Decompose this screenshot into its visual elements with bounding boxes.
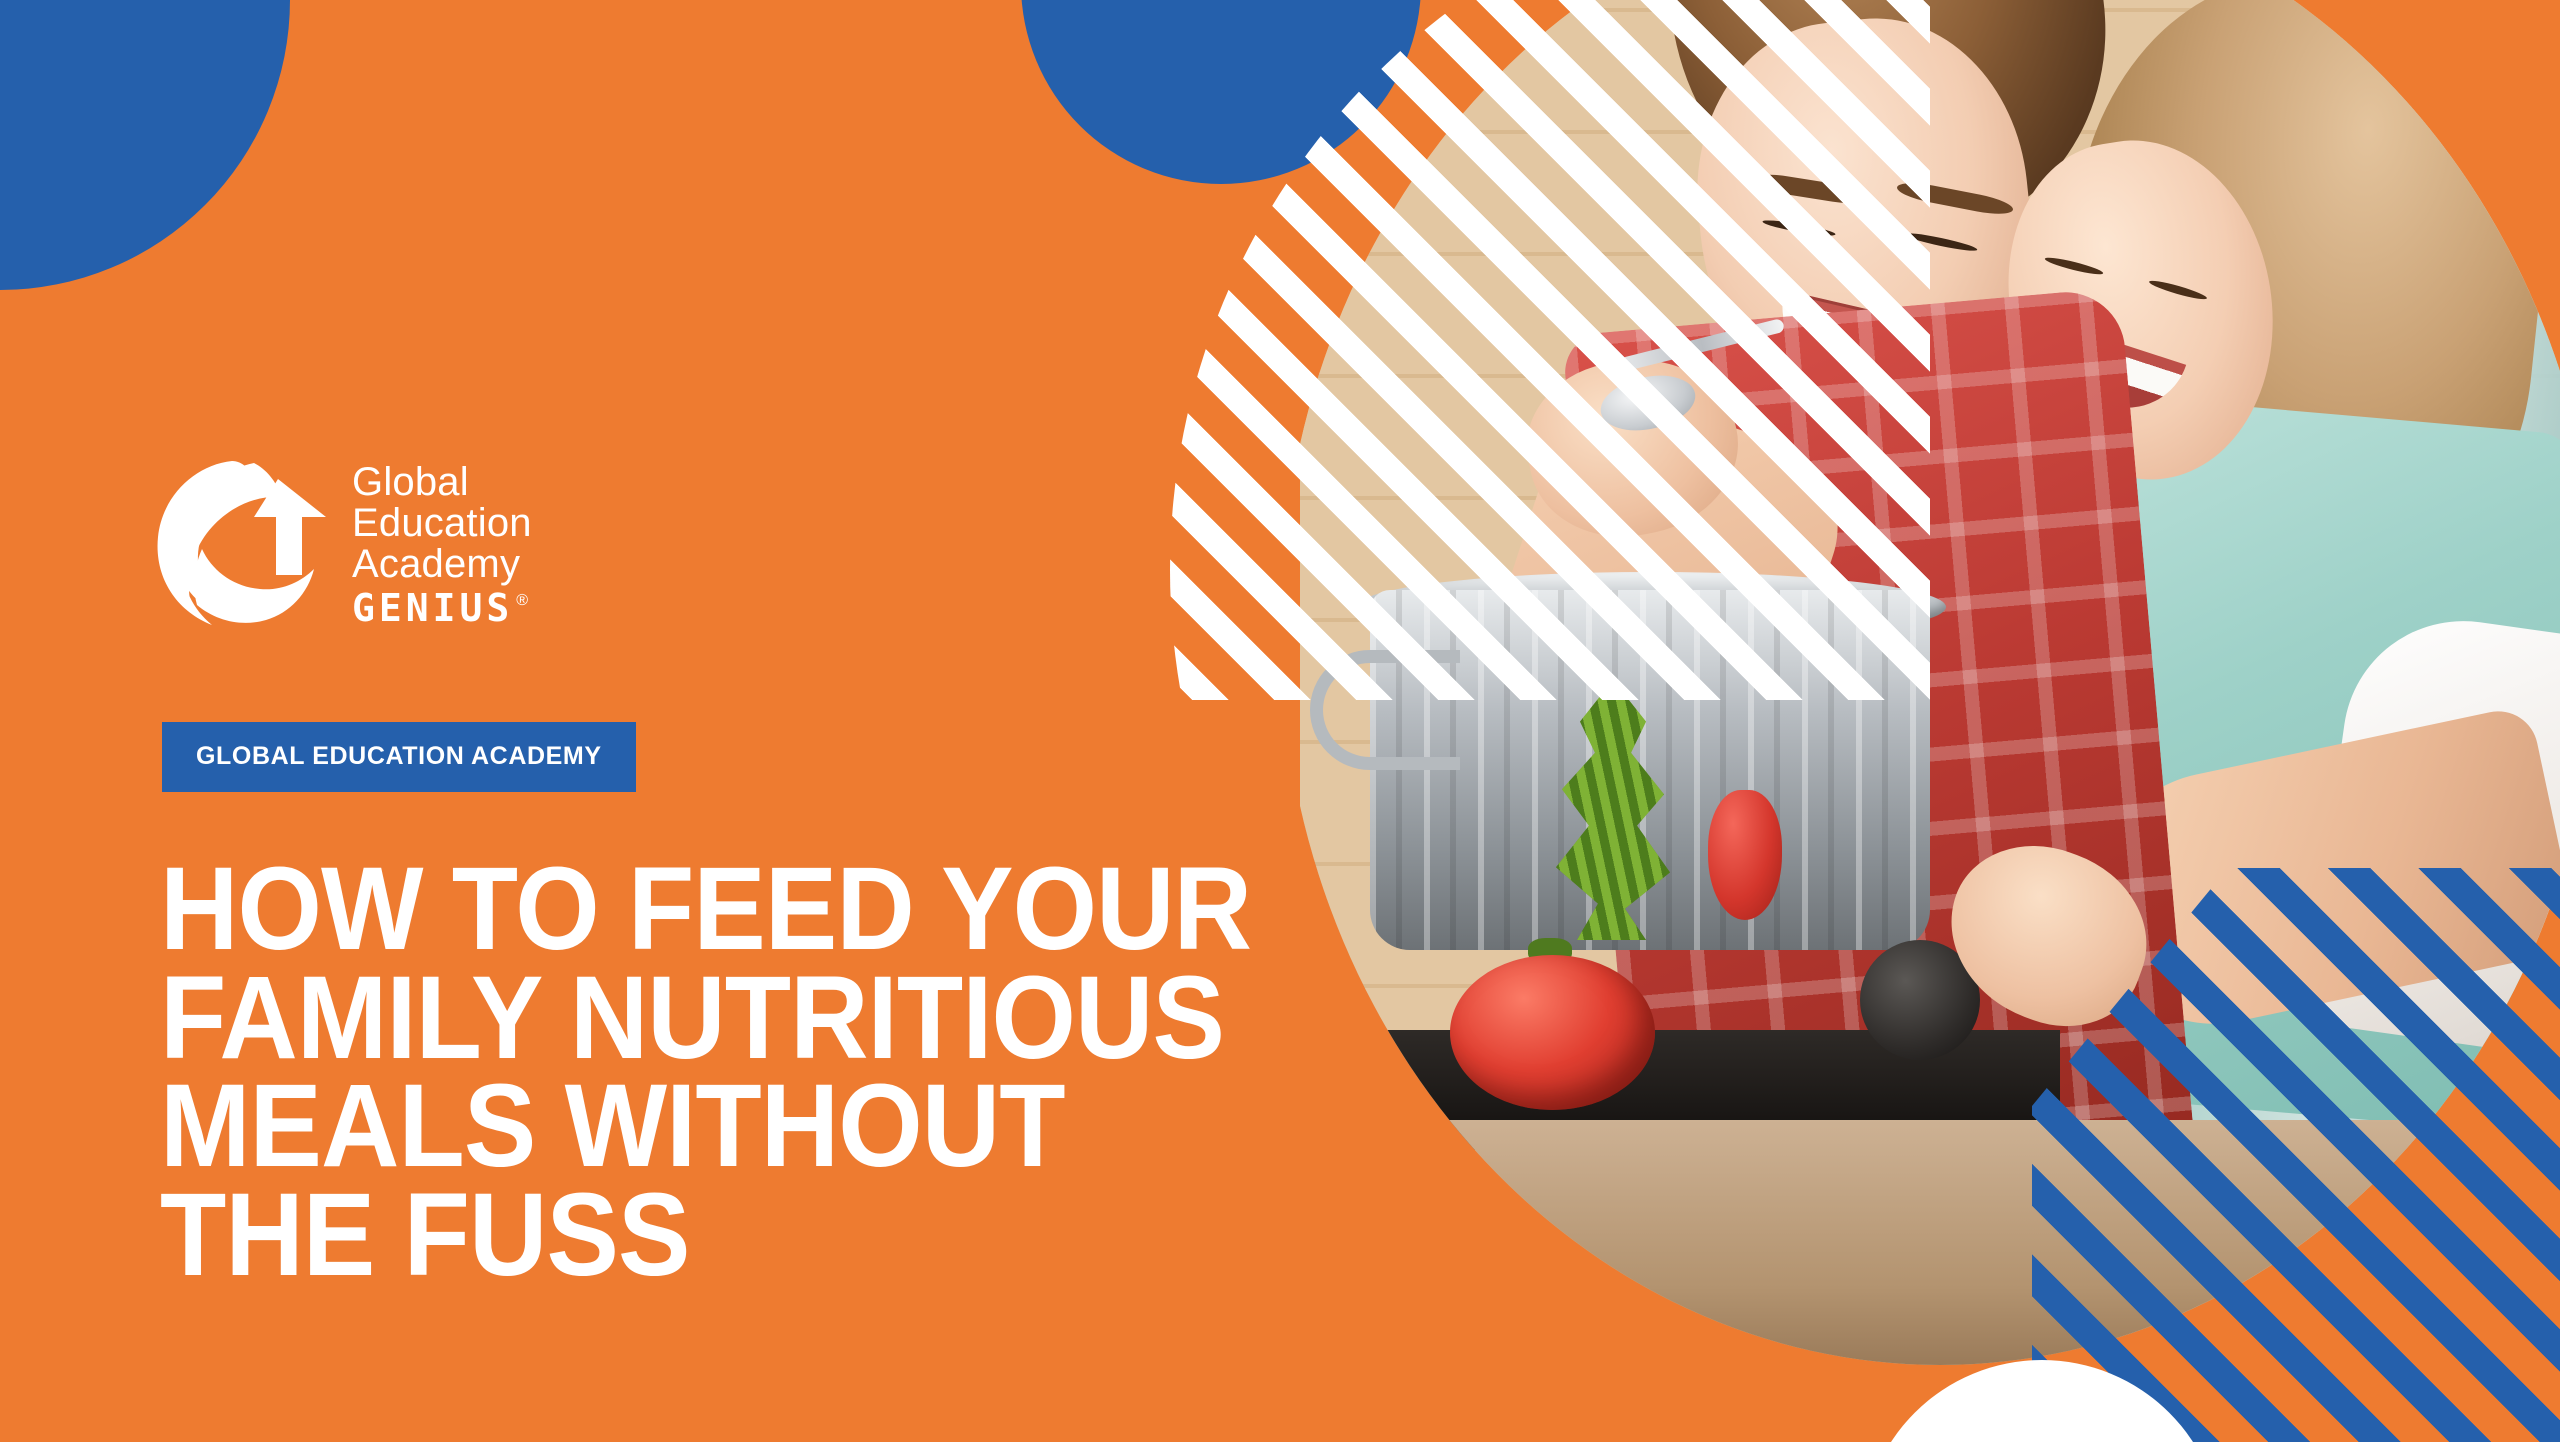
headline-line-1: HOW TO FEED YOUR — [160, 855, 1292, 964]
logo-line-education: Education — [352, 503, 532, 544]
tomato-reflection — [1708, 790, 1782, 920]
globe-arrow-icon — [150, 455, 330, 635]
tomato — [1450, 955, 1655, 1110]
category-badge[interactable]: GLOBAL EDUCATION ACADEMY — [162, 722, 636, 792]
logo-genius-block: GENIUS ® — [352, 589, 532, 628]
banner-canvas: Global Education Academy GENIUS ® GLOBAL… — [0, 0, 2560, 1442]
logo-line-academy: Academy — [352, 544, 532, 585]
headline-line-2: FAMILY NUTRITIOUS — [160, 964, 1292, 1073]
logo-wordmark: Global Education Academy GENIUS ® — [352, 462, 532, 627]
logo-line-global: Global — [352, 462, 532, 503]
registered-trademark-icon: ® — [516, 593, 528, 609]
headline-line-3: MEALS WITHOUT — [160, 1072, 1292, 1181]
headline-line-4: THE FUSS — [160, 1181, 1292, 1290]
brand-logo[interactable]: Global Education Academy GENIUS ® — [150, 455, 532, 635]
blue-quarter-circle-decor — [0, 0, 290, 290]
logo-genius-text: GENIUS — [352, 589, 513, 628]
page-title: HOW TO FEED YOUR FAMILY NUTRITIOUS MEALS… — [160, 855, 1292, 1289]
